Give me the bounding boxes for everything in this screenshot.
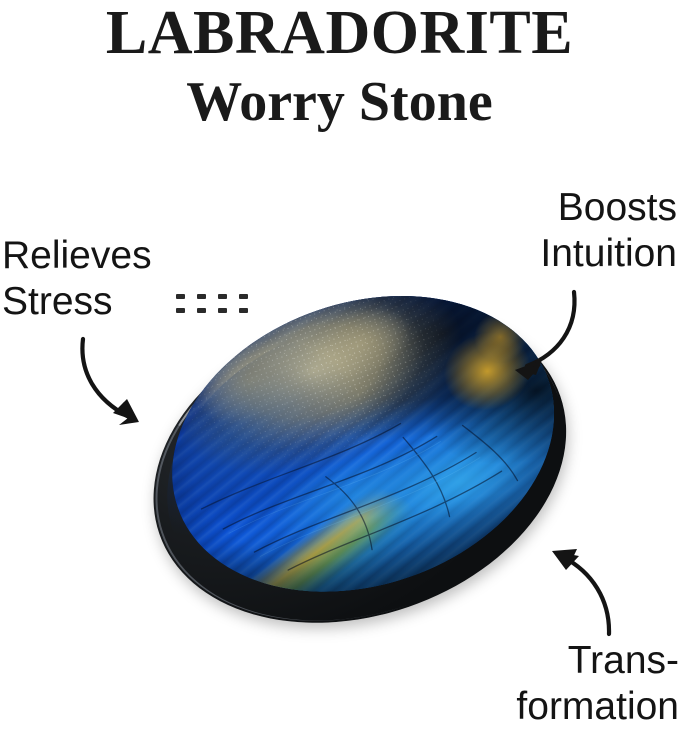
- product-infographic: LABRADORITE Worry Stone: [0, 0, 679, 739]
- annotation-relieves-stress-line1: Relieves: [2, 233, 152, 279]
- labradorite-stone-image: [148, 300, 578, 630]
- annotation-relieves-stress-line2: Stress: [2, 279, 152, 325]
- annotation-boosts-intuition: Boosts Intuition: [540, 185, 677, 277]
- annotation-transformation-line1: Trans-: [516, 638, 679, 684]
- decorative-dot-marks: [176, 292, 260, 324]
- annotation-transformation: Trans- formation: [516, 638, 679, 730]
- annotation-boosts-intuition-line1: Boosts: [540, 185, 677, 231]
- page-subtitle: Worry Stone: [0, 74, 679, 130]
- annotation-transformation-line2: formation: [516, 684, 679, 730]
- annotation-relieves-stress: Relieves Stress: [2, 233, 152, 325]
- page-title: LABRADORITE: [0, 2, 679, 64]
- annotation-boosts-intuition-line2: Intuition: [540, 231, 677, 277]
